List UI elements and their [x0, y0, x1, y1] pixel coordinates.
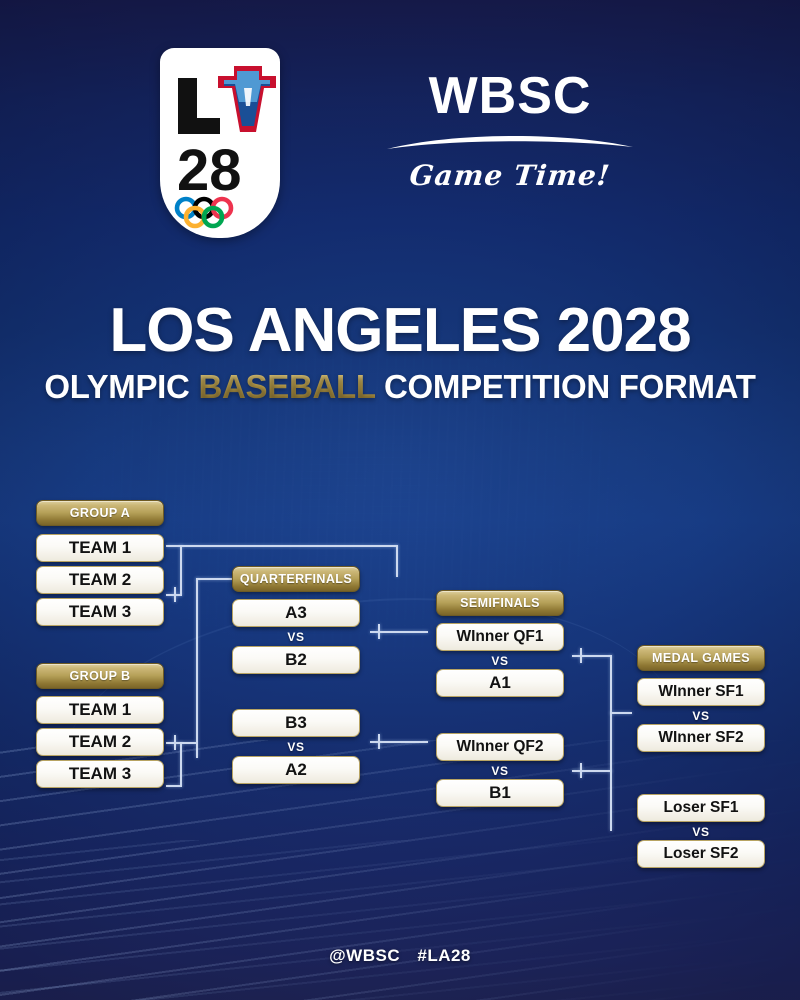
qf1-team-top[interactable]: A3	[232, 599, 360, 627]
sf2-vs-label: VS	[436, 762, 564, 780]
connector-line	[174, 735, 176, 750]
competition-bracket: GROUP A TEAM 1 TEAM 2 TEAM 3 GROUP B TEA…	[0, 0, 800, 1000]
group-b-header: GROUP B	[36, 663, 164, 689]
gold-medal-game-team-top[interactable]: WInner SF1	[637, 678, 765, 706]
footer: @WBSC #LA28	[0, 946, 800, 966]
qf2-team-bottom[interactable]: A2	[232, 756, 360, 784]
sf2-team-top[interactable]: WInner QF2	[436, 733, 564, 761]
sf1-team-bottom[interactable]: A1	[436, 669, 564, 697]
sf1-team-top[interactable]: WInner QF1	[436, 623, 564, 651]
connector-line	[396, 545, 398, 577]
connector-line	[180, 742, 182, 786]
connector-line	[378, 734, 380, 749]
connector-line	[610, 771, 612, 831]
group-a-header: GROUP A	[36, 500, 164, 526]
connector-line	[166, 545, 398, 547]
group-b-team-2[interactable]: TEAM 2	[36, 728, 164, 756]
connector-line	[180, 545, 182, 595]
connector-line	[174, 587, 176, 602]
qf2-team-top[interactable]: B3	[232, 709, 360, 737]
connector-line	[580, 763, 582, 778]
connector-line	[166, 785, 182, 787]
group-a-team-2[interactable]: TEAM 2	[36, 566, 164, 594]
sf2-team-bottom[interactable]: B1	[436, 779, 564, 807]
group-b-team-3[interactable]: TEAM 3	[36, 760, 164, 788]
connector-line	[378, 624, 380, 639]
group-a-team-1[interactable]: TEAM 1	[36, 534, 164, 562]
qf1-vs-label: VS	[232, 628, 360, 646]
bronze-medal-game-team-top[interactable]: Loser SF1	[637, 794, 765, 822]
bronze-medal-game-vs-label: VS	[637, 823, 765, 841]
medal-games-header: MEDAL GAMES	[637, 645, 765, 671]
connector-line	[580, 648, 582, 663]
qf1-team-bottom[interactable]: B2	[232, 646, 360, 674]
group-b-team-1[interactable]: TEAM 1	[36, 696, 164, 724]
connector-line	[572, 770, 612, 772]
qf2-vs-label: VS	[232, 738, 360, 756]
gold-medal-game-team-bottom[interactable]: WInner SF2	[637, 724, 765, 752]
connector-line	[610, 712, 632, 714]
poster-canvas: 28 WBSC Game Ti	[0, 0, 800, 1000]
connector-line	[196, 578, 198, 758]
sf1-vs-label: VS	[436, 652, 564, 670]
quarterfinals-header: QUARTERFINALS	[232, 566, 360, 592]
connector-line	[572, 655, 612, 657]
bronze-medal-game-team-bottom[interactable]: Loser SF2	[637, 840, 765, 868]
gold-medal-game-vs-label: VS	[637, 707, 765, 725]
semifinals-header: SEMIFINALS	[436, 590, 564, 616]
connector-line	[196, 578, 236, 580]
footer-handle[interactable]: @WBSC	[329, 946, 400, 965]
group-a-team-3[interactable]: TEAM 3	[36, 598, 164, 626]
footer-hashtag[interactable]: #LA28	[417, 946, 471, 965]
